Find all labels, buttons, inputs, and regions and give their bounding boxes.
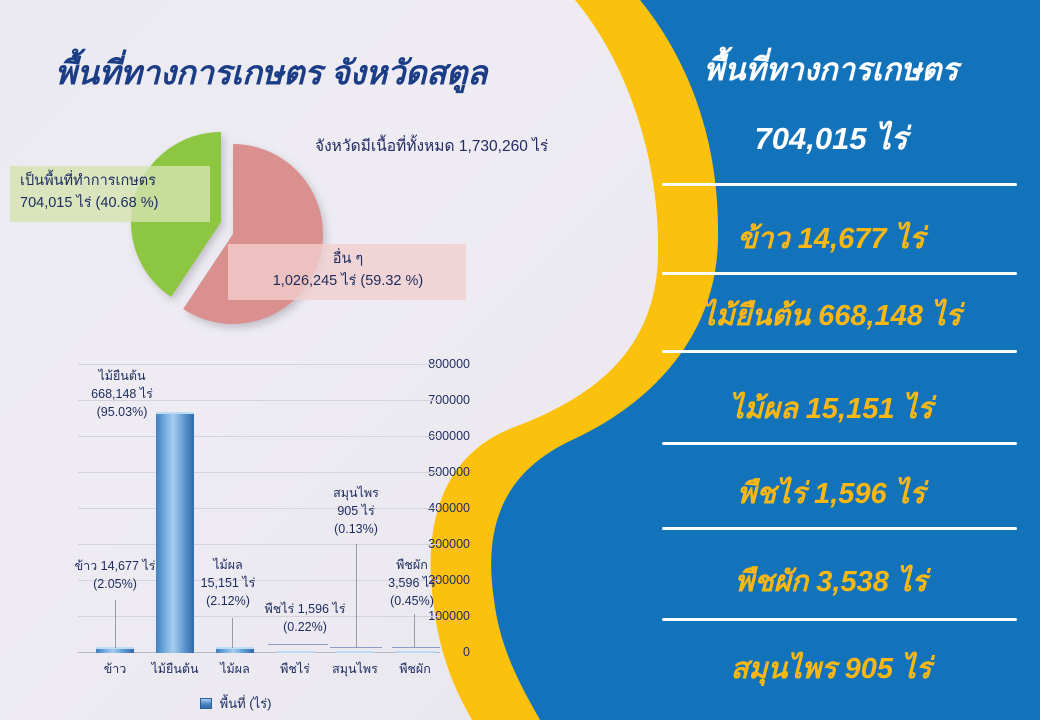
panel-divider: [662, 272, 1017, 275]
data-label-herb: สมุนไพร 905 ไร่ (0.13%): [333, 484, 379, 538]
panel-heading-line1: พื้นที่ทางการเกษตร: [640, 44, 1022, 94]
pie-label-other-line2: 1,026,245 ไร่ (59.32 %): [238, 271, 458, 293]
x-label-fieldcrop: พืชไร่: [280, 659, 310, 679]
chart-legend: พื้นที่ (ไร่): [200, 693, 271, 714]
panel-item-fruit: ไม้ผล 15,151 ไร่: [640, 385, 1022, 431]
data-label-vegetable-line3: (0.45%): [388, 592, 436, 610]
data-label-fruit: ไม้ผล 15,151 ไร่ (2.12%): [201, 556, 256, 610]
panel-item-fieldcrop: พืชไร่ 1,596 ไร่: [640, 470, 1022, 516]
leader-line-vegetable: [414, 614, 415, 648]
data-label-rice: ข้าว 14,677 ไร่ (2.05%): [75, 557, 156, 593]
panel-divider: [662, 350, 1017, 353]
data-label-herb-line2: 905 ไร่: [333, 502, 379, 520]
data-label-fieldcrop: พืชไร่ 1,596 ไร่ (0.22%): [265, 600, 346, 636]
panel-divider: [662, 183, 1017, 186]
data-label-fieldcrop-line1: พืชไร่ 1,596 ไร่: [265, 600, 346, 618]
panel-item-vegetable: พืชผัก 3,538 ไร่: [640, 558, 1022, 604]
legend-swatch-icon: [200, 698, 212, 709]
panel-divider: [662, 618, 1017, 621]
data-label-fruit-line3: (2.12%): [201, 592, 256, 610]
data-label-vegetable: พืชผัก 3,596 ไร่ (0.45%): [388, 556, 436, 610]
panel-heading-line2: 704,015 ไร่: [640, 113, 1022, 163]
data-label-vegetable-line1: พืชผัก: [388, 556, 436, 574]
data-label-perennial-line2: 668,148 ไร่: [91, 385, 153, 403]
summary-panel: พื้นที่ทางการเกษตร 704,015 ไร่ ข้าว 14,6…: [640, 0, 1040, 720]
bar-perennial: [156, 412, 194, 653]
leader-line-rice: [115, 600, 116, 648]
bar-vegetable: [396, 651, 434, 653]
pie-label-agriculture: เป็นพื้นที่ทำการเกษตร 704,015 ไร่ (40.68…: [10, 166, 210, 222]
panel-item-herb: สมุนไพร 905 ไร่: [640, 645, 1022, 691]
pie-chart: [100, 110, 360, 350]
x-label-herb: สมุนไพร: [332, 659, 378, 679]
infographic-canvas: พื้นที่ทางการเกษตร จังหวัดสตูล จังหวัดมี…: [0, 0, 1040, 720]
data-label-fruit-line1: ไม้ผล: [201, 556, 256, 574]
data-label-perennial-line1: ไม้ยืนต้น: [91, 367, 153, 385]
bar-fieldcrop: [276, 651, 314, 653]
data-label-perennial: ไม้ยืนต้น 668,148 ไร่ (95.03%): [91, 367, 153, 421]
pie-label-other-line1: อื่น ๆ: [238, 249, 458, 271]
pie-label-agriculture-line1: เป็นพื้นที่ทำการเกษตร: [20, 171, 202, 193]
data-label-vegetable-line2: 3,596 ไร่: [388, 574, 436, 592]
bar-chart: 800000 700000 600000 500000 400000 30000…: [0, 352, 470, 720]
data-label-fieldcrop-line2: (0.22%): [265, 618, 346, 636]
x-label-rice: ข้าว: [104, 659, 127, 679]
bar-herb: [336, 651, 374, 653]
page-title: พื้นที่ทางการเกษตร จังหวัดสตูล: [55, 46, 575, 99]
leader-base-herb: [330, 647, 382, 648]
x-label-vegetable: พืชผัก: [399, 659, 431, 679]
bar-fruit: [216, 647, 254, 653]
data-label-fruit-line2: 15,151 ไร่: [201, 574, 256, 592]
x-label-perennial: ไม้ยืนต้น: [151, 659, 198, 679]
pie-label-agriculture-line2: 704,015 ไร่ (40.68 %): [20, 193, 202, 215]
leader-line-fieldcrop: [268, 644, 328, 645]
data-label-herb-line3: (0.13%): [333, 520, 379, 538]
panel-item-rice: ข้าว 14,677 ไร่: [640, 215, 1022, 261]
pie-label-other: อื่น ๆ 1,026,245 ไร่ (59.32 %): [228, 244, 466, 300]
legend-label: พื้นที่ (ไร่): [220, 696, 272, 711]
leader-line-fruit: [232, 618, 233, 648]
data-label-perennial-line3: (95.03%): [91, 403, 153, 421]
data-label-rice-line1: ข้าว 14,677 ไร่: [75, 557, 156, 575]
leader-base-vegetable: [392, 647, 440, 648]
panel-divider: [662, 442, 1017, 445]
data-label-herb-line1: สมุนไพร: [333, 484, 379, 502]
data-label-rice-line2: (2.05%): [75, 575, 156, 593]
x-label-fruit: ไม้ผล: [220, 659, 250, 679]
leader-line-herb: [356, 544, 357, 648]
panel-item-perennial: ไม้ยืนต้น 668,148 ไร่: [640, 292, 1022, 338]
panel-divider: [662, 527, 1017, 530]
